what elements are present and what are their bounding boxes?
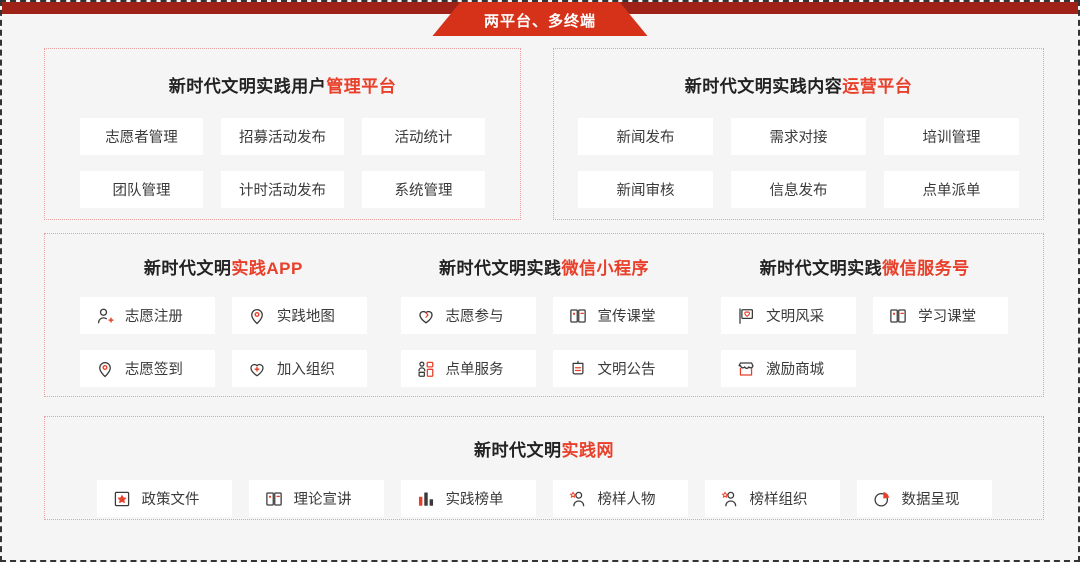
card-practice-map[interactable]: 实践地图 xyxy=(232,297,367,334)
card-label: 志愿参与 xyxy=(446,305,504,326)
title-accent-text: 运营平台 xyxy=(842,77,912,96)
card-label: 信息发布 xyxy=(770,179,828,200)
title-plain-text: 新时代文明实践 xyxy=(439,259,562,278)
card-label: 系统管理 xyxy=(395,179,453,200)
card-demand-matching[interactable]: 需求对接 xyxy=(731,118,866,155)
map-pin-icon xyxy=(248,307,266,325)
card-label: 学习课堂 xyxy=(918,305,976,326)
card-label: 文明公告 xyxy=(598,358,656,379)
card-publicity-classroom[interactable]: 宣传课堂 xyxy=(553,297,688,334)
panel-app-title: 新时代文明实践APP xyxy=(63,254,384,279)
terminal-column-service-account: 文明风采 学习课堂 xyxy=(704,297,1025,387)
card-label: 新闻审核 xyxy=(617,179,675,200)
card-label: 理论宣讲 xyxy=(294,488,352,509)
infographic-root: 两平台、多终端 新时代文明实践用户管理平台 志愿者管理 招募活动发布 活动统计 … xyxy=(0,0,1080,562)
card-order-service[interactable]: 点单服务 xyxy=(401,350,536,387)
card-placeholder xyxy=(873,350,1008,387)
card-label: 榜样人物 xyxy=(598,488,656,509)
card-label: 志愿签到 xyxy=(125,358,183,379)
heart-icon xyxy=(417,307,435,325)
app-row-2: 志愿签到 加入组织 xyxy=(63,350,384,387)
card-label: 宣传课堂 xyxy=(598,305,656,326)
pie-chart-icon xyxy=(873,490,891,508)
card-label: 数据呈现 xyxy=(902,488,960,509)
card-information-publish[interactable]: 信息发布 xyxy=(731,171,866,208)
card-label: 计时活动发布 xyxy=(239,179,326,200)
panel-miniprogram-title: 新时代文明实践微信小程序 xyxy=(384,254,705,279)
card-join-organization[interactable]: 加入组织 xyxy=(232,350,367,387)
card-practice-ranking[interactable]: 实践榜单 xyxy=(401,480,536,517)
service-account-row-2: 激励商城 xyxy=(704,350,1025,387)
card-label: 培训管理 xyxy=(923,126,981,147)
terminals-cards-grid: 志愿注册 实践地图 xyxy=(45,297,1043,387)
card-training-management[interactable]: 培训管理 xyxy=(884,118,1019,155)
title-accent-text: 实践网 xyxy=(562,441,615,460)
card-label: 加入组织 xyxy=(277,358,335,379)
panel-terminals: 新时代文明实践APP 新时代文明实践微信小程序 新时代文明实践微信服务号 xyxy=(44,233,1044,397)
open-book-icon xyxy=(569,307,587,325)
miniprogram-row-2: 点单服务 文明公告 xyxy=(384,350,705,387)
title-accent-text: 微信服务号 xyxy=(882,259,970,278)
panel-content-operation-title: 新时代文明实践内容运营平台 xyxy=(554,72,1043,97)
card-activity-statistics[interactable]: 活动统计 xyxy=(362,118,485,155)
document-star-icon xyxy=(113,490,131,508)
service-account-row-1: 文明风采 学习课堂 xyxy=(704,297,1025,334)
card-label: 志愿注册 xyxy=(125,305,183,326)
card-policy-documents[interactable]: 政策文件 xyxy=(97,480,232,517)
person-star-icon xyxy=(721,490,739,508)
panel-user-management-title: 新时代文明实践用户管理平台 xyxy=(45,72,520,97)
card-timed-activity-publish[interactable]: 计时活动发布 xyxy=(221,171,344,208)
announcement-board-icon xyxy=(569,360,587,378)
card-news-review[interactable]: 新闻审核 xyxy=(578,171,713,208)
website-row-1: 政策文件 理论宣讲 xyxy=(45,480,1043,517)
terminals-titles-row: 新时代文明实践APP 新时代文明实践微信小程序 新时代文明实践微信服务号 xyxy=(45,254,1043,279)
card-label: 激励商城 xyxy=(766,358,824,379)
card-label: 点单派单 xyxy=(923,179,981,200)
title-accent-text: 管理平台 xyxy=(326,77,396,96)
card-volunteer-checkin[interactable]: 志愿签到 xyxy=(80,350,215,387)
content-platform-row-2: 新闻审核 信息发布 点单派单 xyxy=(554,171,1043,208)
card-label: 文明风采 xyxy=(766,305,824,326)
title-accent-text: 微信小程序 xyxy=(562,259,650,278)
card-civilization-announcement[interactable]: 文明公告 xyxy=(553,350,688,387)
card-label: 招募活动发布 xyxy=(239,126,326,147)
person-star-icon xyxy=(569,490,587,508)
bar-chart-icon xyxy=(417,490,435,508)
terminal-column-miniprogram: 志愿参与 宣传课堂 xyxy=(384,297,705,387)
card-label: 新闻发布 xyxy=(617,126,675,147)
heart-plus-icon xyxy=(248,360,266,378)
title-plain-text: 新时代文明实践 xyxy=(760,259,883,278)
panel-website-title: 新时代文明实践网 xyxy=(45,436,1043,461)
card-volunteer-register[interactable]: 志愿注册 xyxy=(80,297,215,334)
title-plain-text: 新时代文明 xyxy=(144,259,232,278)
card-label: 活动统计 xyxy=(395,126,453,147)
title-plain-text: 新时代文明 xyxy=(474,441,562,460)
content-platform-row-1: 新闻发布 需求对接 培训管理 xyxy=(554,118,1043,155)
card-role-model-person[interactable]: 榜样人物 xyxy=(553,480,688,517)
card-recruitment-activity-publish[interactable]: 招募活动发布 xyxy=(221,118,344,155)
title-plain-text: 新时代文明实践用户 xyxy=(169,77,327,96)
card-civilization-style[interactable]: 文明风采 xyxy=(721,297,856,334)
group-people-icon xyxy=(417,360,435,378)
panel-user-management-platform: 新时代文明实践用户管理平台 志愿者管理 招募活动发布 活动统计 团队管理 计时活… xyxy=(44,48,521,220)
card-label: 团队管理 xyxy=(113,179,171,200)
header-ribbon-label: 两平台、多终端 xyxy=(484,10,596,29)
title-accent-text: 实践APP xyxy=(231,259,302,278)
card-label: 政策文件 xyxy=(142,488,200,509)
card-system-management[interactable]: 系统管理 xyxy=(362,171,485,208)
card-label: 志愿者管理 xyxy=(105,126,178,147)
header-ribbon: 两平台、多终端 xyxy=(433,2,648,36)
card-label: 需求对接 xyxy=(770,126,828,147)
shop-icon xyxy=(737,360,755,378)
card-data-presentation[interactable]: 数据呈现 xyxy=(857,480,992,517)
card-news-publish[interactable]: 新闻发布 xyxy=(578,118,713,155)
terminal-column-app: 志愿注册 实践地图 xyxy=(63,297,384,387)
user-platform-row-1: 志愿者管理 招募活动发布 活动统计 xyxy=(45,118,520,155)
card-label: 实践榜单 xyxy=(446,488,504,509)
person-add-icon xyxy=(96,307,114,325)
card-role-model-organization[interactable]: 榜样组织 xyxy=(705,480,840,517)
card-incentive-mall[interactable]: 激励商城 xyxy=(721,350,856,387)
miniprogram-row-1: 志愿参与 宣传课堂 xyxy=(384,297,705,334)
open-book-icon xyxy=(889,307,907,325)
card-label: 实践地图 xyxy=(277,305,335,326)
card-label: 点单服务 xyxy=(446,358,504,379)
panel-content-operation-platform: 新时代文明实践内容运营平台 新闻发布 需求对接 培训管理 新闻审核 信息发布 点… xyxy=(553,48,1044,220)
card-order-dispatch[interactable]: 点单派单 xyxy=(884,171,1019,208)
title-plain-text: 新时代文明实践内容 xyxy=(685,77,843,96)
card-study-classroom[interactable]: 学习课堂 xyxy=(873,297,1008,334)
map-pin-icon xyxy=(96,360,114,378)
card-volunteer-management[interactable]: 志愿者管理 xyxy=(80,118,203,155)
user-platform-row-2: 团队管理 计时活动发布 系统管理 xyxy=(45,171,520,208)
app-row-1: 志愿注册 实践地图 xyxy=(63,297,384,334)
card-team-management[interactable]: 团队管理 xyxy=(80,171,203,208)
flag-heart-icon xyxy=(737,307,755,325)
panel-service-account-title: 新时代文明实践微信服务号 xyxy=(704,254,1025,279)
open-book-icon xyxy=(265,490,283,508)
card-theory-lecture[interactable]: 理论宣讲 xyxy=(249,480,384,517)
card-label: 榜样组织 xyxy=(750,488,808,509)
panel-website: 新时代文明实践网 政策文件 xyxy=(44,416,1044,520)
card-volunteer-participation[interactable]: 志愿参与 xyxy=(401,297,536,334)
